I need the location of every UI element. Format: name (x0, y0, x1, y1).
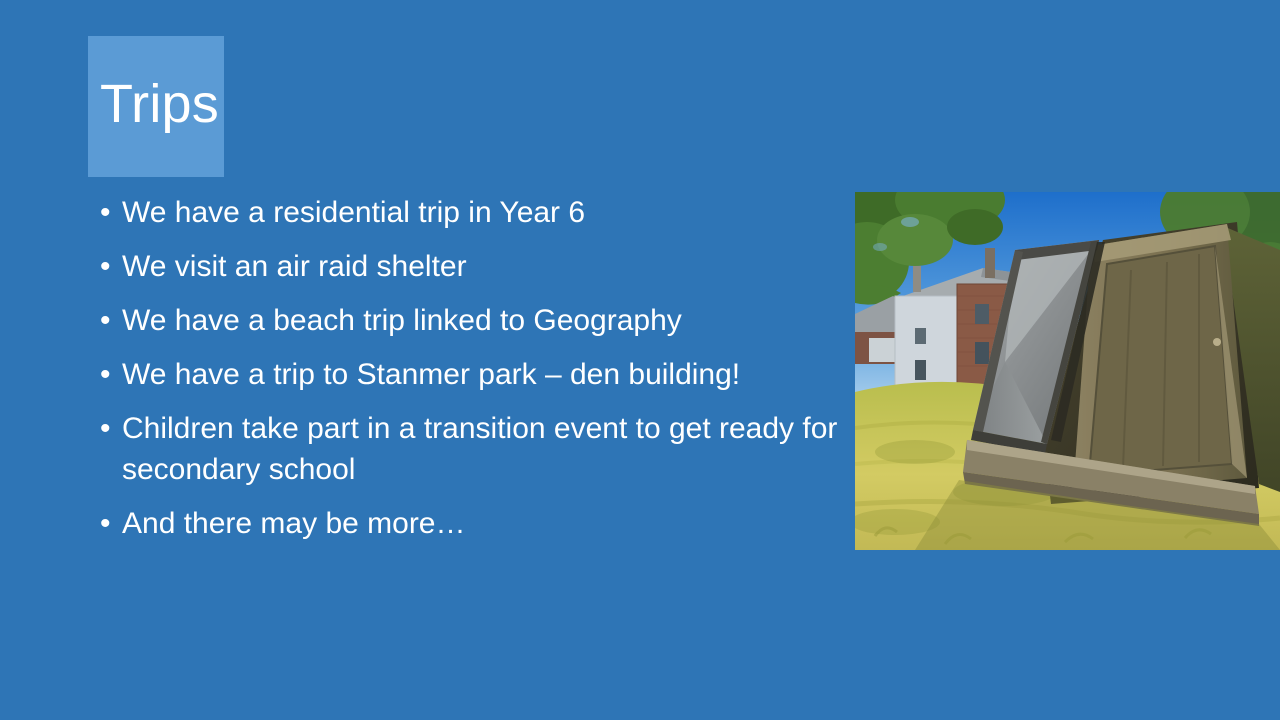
air-raid-shelter-illustration (855, 192, 1280, 550)
list-item: • We have a beach trip linked to Geograp… (96, 300, 844, 341)
bullet-marker-icon: • (100, 503, 111, 544)
slide-canvas: Trips • We have a residential trip in Ye… (0, 0, 1280, 720)
bullet-list: • We have a residential trip in Year 6 •… (96, 192, 844, 544)
list-item-label: We have a residential trip in Year 6 (122, 192, 844, 233)
bullet-marker-icon: • (100, 408, 111, 449)
list-item-label: Children take part in a transition event… (122, 408, 844, 490)
list-item-label: We have a trip to Stanmer park – den bui… (122, 354, 844, 395)
page-title: Trips (100, 68, 219, 140)
bullet-marker-icon: • (100, 192, 111, 233)
air-raid-shelter-photo (855, 192, 1280, 550)
bullet-marker-icon: • (100, 246, 111, 287)
list-item: • And there may be more… (96, 503, 844, 544)
list-item-label: We visit an air raid shelter (122, 246, 844, 287)
bullet-marker-icon: • (100, 300, 111, 341)
bullet-marker-icon: • (100, 354, 111, 395)
list-item: • We have a trip to Stanmer park – den b… (96, 354, 844, 395)
list-item-label: We have a beach trip linked to Geography (122, 300, 844, 341)
list-item-label: And there may be more… (122, 503, 844, 544)
list-item: • We visit an air raid shelter (96, 246, 844, 287)
list-item: • Children take part in a transition eve… (96, 408, 844, 490)
list-item: • We have a residential trip in Year 6 (96, 192, 844, 233)
